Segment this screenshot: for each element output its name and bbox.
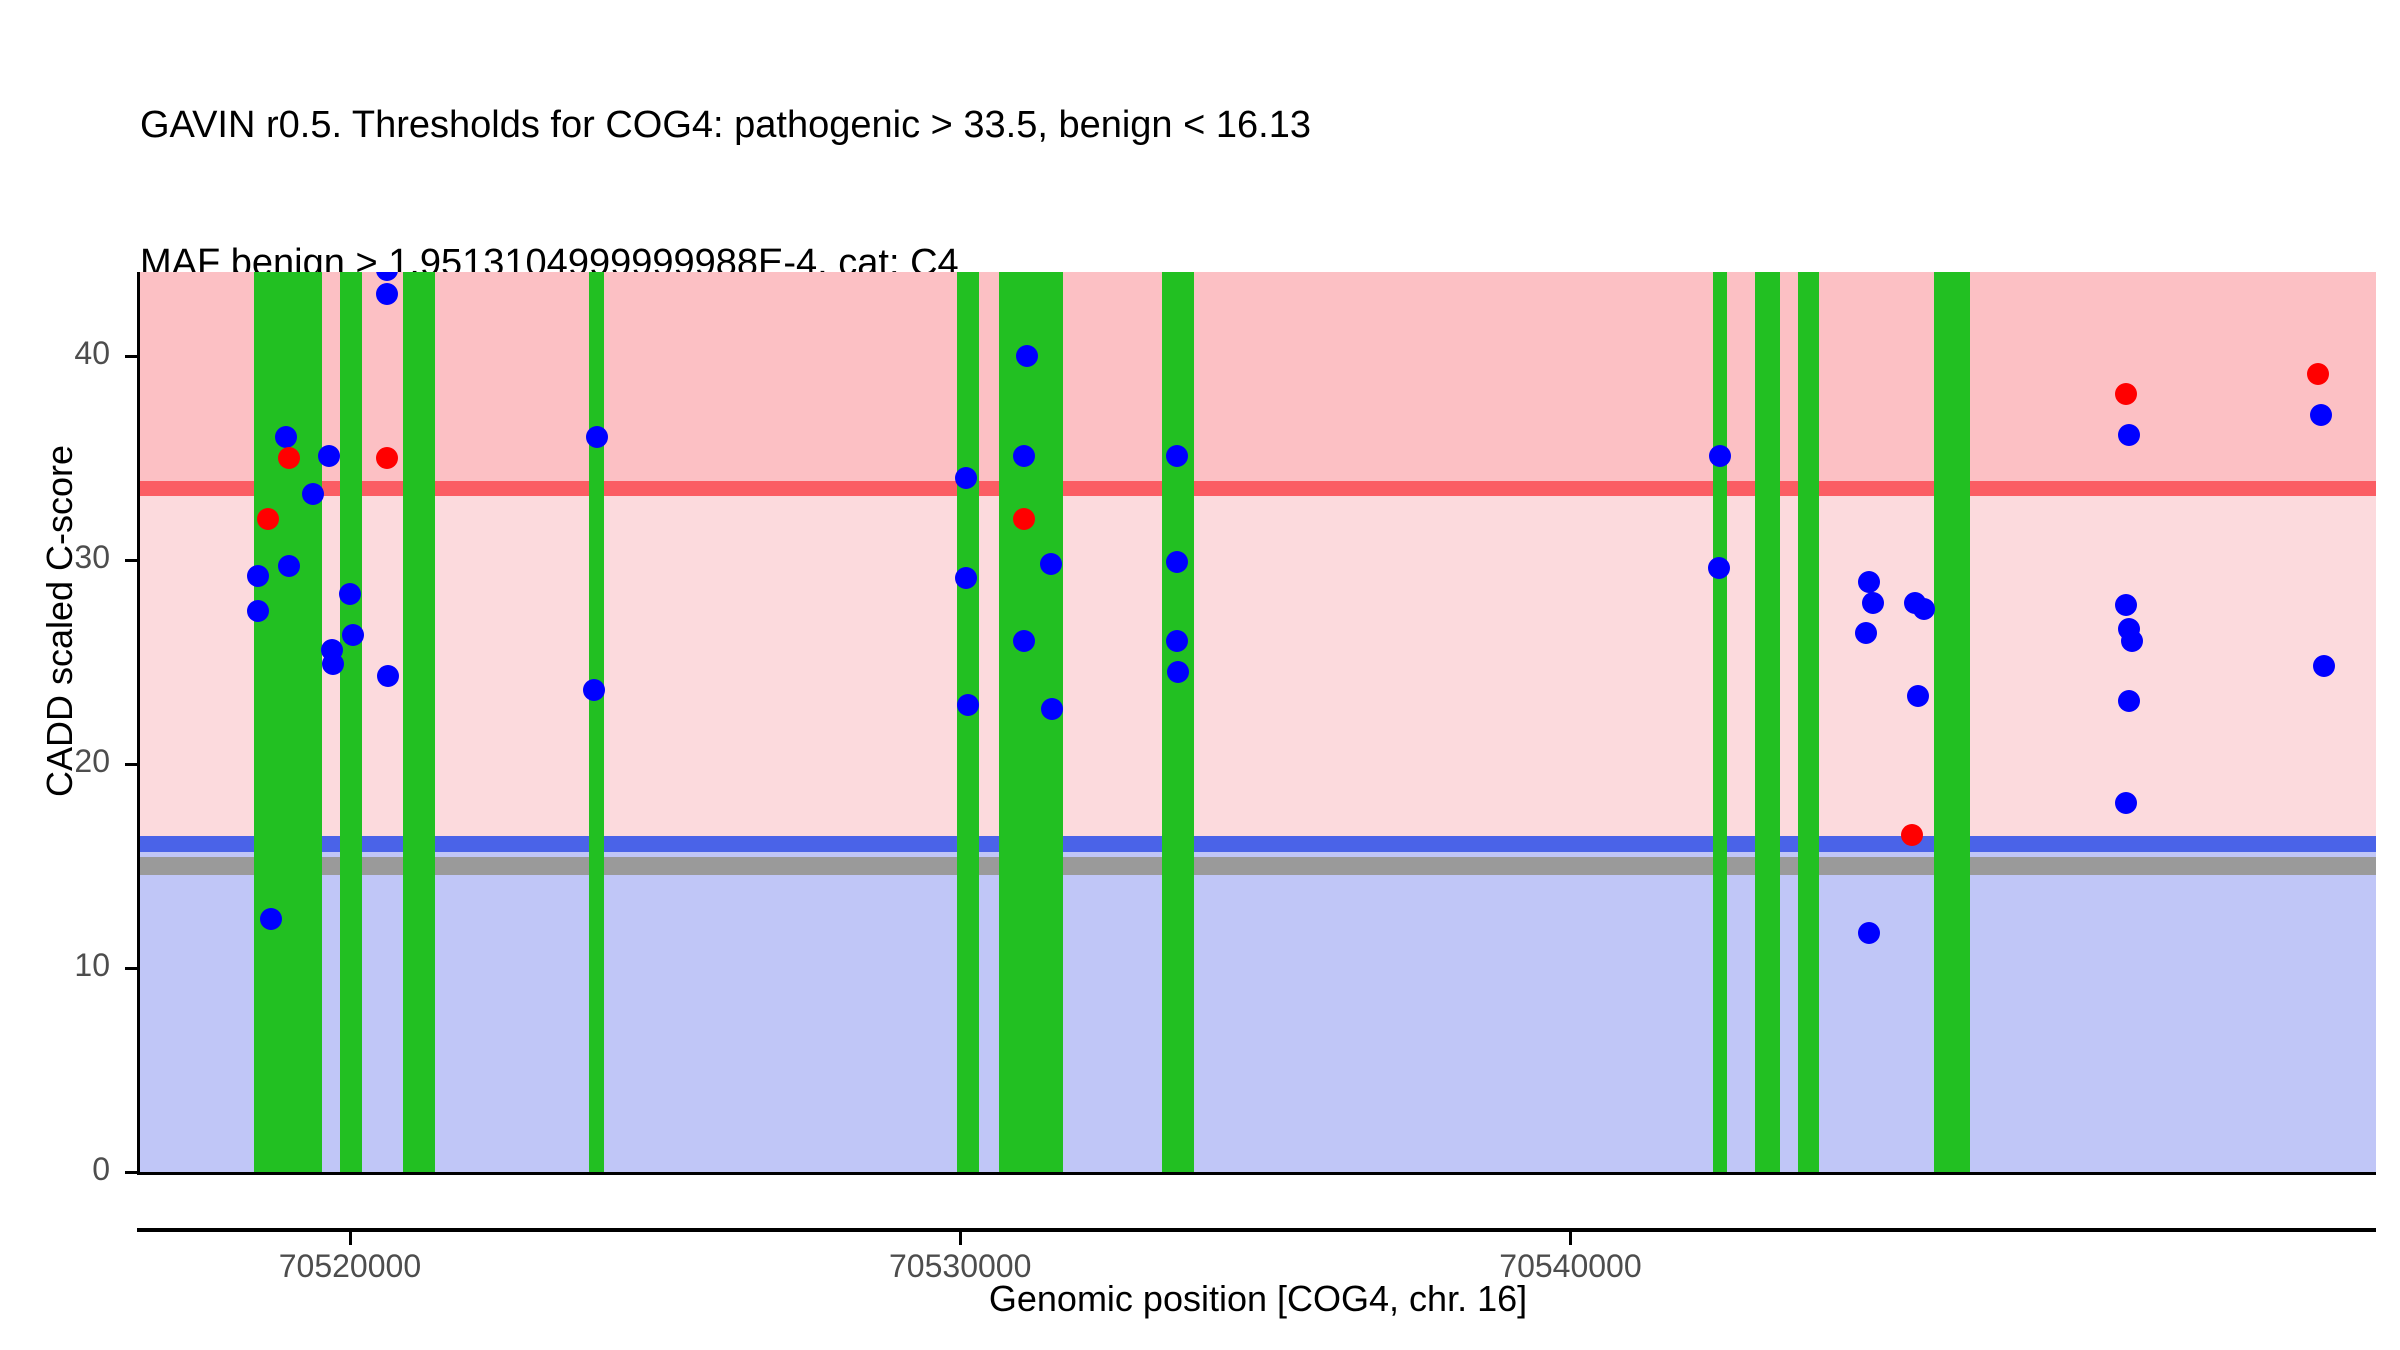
gnomad-variant-point bbox=[1166, 551, 1188, 573]
clinvar-variant-point bbox=[2307, 363, 2329, 385]
gnomad-variant-point bbox=[2115, 792, 2137, 814]
gnomad-variant-point bbox=[1041, 698, 1063, 720]
gnomad-variant-point bbox=[247, 600, 269, 622]
gnomad-variant-point bbox=[1709, 445, 1731, 467]
x-axis-tick-mark bbox=[1569, 1232, 1572, 1245]
exon-marker bbox=[300, 272, 323, 1172]
x-axis-tick-label: 70540000 bbox=[1440, 1248, 1700, 1285]
gnomad-variant-point bbox=[278, 555, 300, 577]
gnomad-variant-point bbox=[1862, 592, 1884, 614]
exon-marker bbox=[1798, 272, 1818, 1172]
exon-marker bbox=[1162, 272, 1194, 1172]
benign-threshold-band bbox=[140, 836, 2376, 852]
clinvar-variant-point bbox=[278, 447, 300, 469]
gnomad-variant-point bbox=[260, 908, 282, 930]
exon-marker bbox=[1755, 272, 1780, 1172]
gnomad-variant-point bbox=[318, 445, 340, 467]
exon-marker bbox=[1934, 272, 1970, 1172]
gnomad-variant-point bbox=[1013, 445, 1035, 467]
gnomad-variant-point bbox=[376, 283, 398, 305]
genome-wide-fallback-band bbox=[140, 857, 2376, 875]
y-axis-tick-mark bbox=[125, 355, 139, 358]
clinvar-variant-point bbox=[376, 447, 398, 469]
gnomad-variant-point bbox=[957, 694, 979, 716]
gnomad-variant-point bbox=[1040, 553, 1062, 575]
title-line-1: GAVIN r0.5. Thresholds for COG4: pathoge… bbox=[140, 102, 2340, 148]
gnomad-variant-point bbox=[2118, 690, 2140, 712]
y-axis-tick-mark bbox=[125, 1171, 139, 1174]
gnomad-variant-point bbox=[1166, 445, 1188, 467]
x-axis-line bbox=[137, 1228, 2376, 1232]
gnomad-variant-point bbox=[2118, 424, 2140, 446]
y-axis-tick-label: 0 bbox=[30, 1151, 110, 1188]
x-axis-tick-label: 70520000 bbox=[220, 1248, 480, 1285]
exon-marker bbox=[1040, 272, 1063, 1172]
gnomad-variant-point bbox=[1016, 345, 1038, 367]
exon-marker bbox=[1713, 272, 1727, 1172]
panel-bottom-line bbox=[137, 1172, 2376, 1175]
gnomad-variant-point bbox=[1167, 661, 1189, 683]
y-axis-tick-label: 10 bbox=[30, 947, 110, 984]
y-axis-title: CADD scaled C-score bbox=[39, 191, 81, 1051]
x-axis-tick-mark bbox=[349, 1232, 352, 1245]
y-axis-tick-mark bbox=[125, 763, 139, 766]
exon-marker bbox=[1010, 272, 1042, 1172]
plot-panel bbox=[140, 272, 2376, 1172]
exon-marker bbox=[340, 272, 363, 1172]
y-axis-line bbox=[137, 272, 140, 1174]
exon-marker bbox=[589, 272, 605, 1172]
y-axis-tick-label: 40 bbox=[30, 335, 110, 372]
gnomad-variant-point bbox=[1913, 598, 1935, 620]
exon-marker bbox=[403, 272, 435, 1172]
pathogenic-region bbox=[140, 272, 2376, 481]
y-axis-tick-mark bbox=[125, 967, 139, 970]
gnomad-variant-point bbox=[1708, 557, 1730, 579]
gnomad-variant-point bbox=[2310, 404, 2332, 426]
ambiguous-region bbox=[140, 496, 2376, 835]
benign-region bbox=[140, 875, 2376, 1172]
gnomad-variant-point bbox=[377, 665, 399, 687]
gnomad-variant-point bbox=[275, 426, 297, 448]
x-axis-tick-label: 70530000 bbox=[830, 1248, 1090, 1285]
y-axis-tick-mark bbox=[125, 559, 139, 562]
clinvar-variant-point bbox=[257, 508, 279, 530]
pathogenic-threshold-band bbox=[140, 481, 2376, 496]
x-axis-tick-mark bbox=[959, 1232, 962, 1245]
gnomad-variant-point bbox=[2115, 594, 2137, 616]
y-axis-tick-label: 20 bbox=[30, 743, 110, 780]
exon-marker bbox=[957, 272, 980, 1172]
exon-marker bbox=[254, 272, 283, 1172]
y-axis-tick-label: 30 bbox=[30, 539, 110, 576]
gnomad-variant-point bbox=[322, 653, 344, 675]
gnomad-variant-point bbox=[2313, 655, 2335, 677]
